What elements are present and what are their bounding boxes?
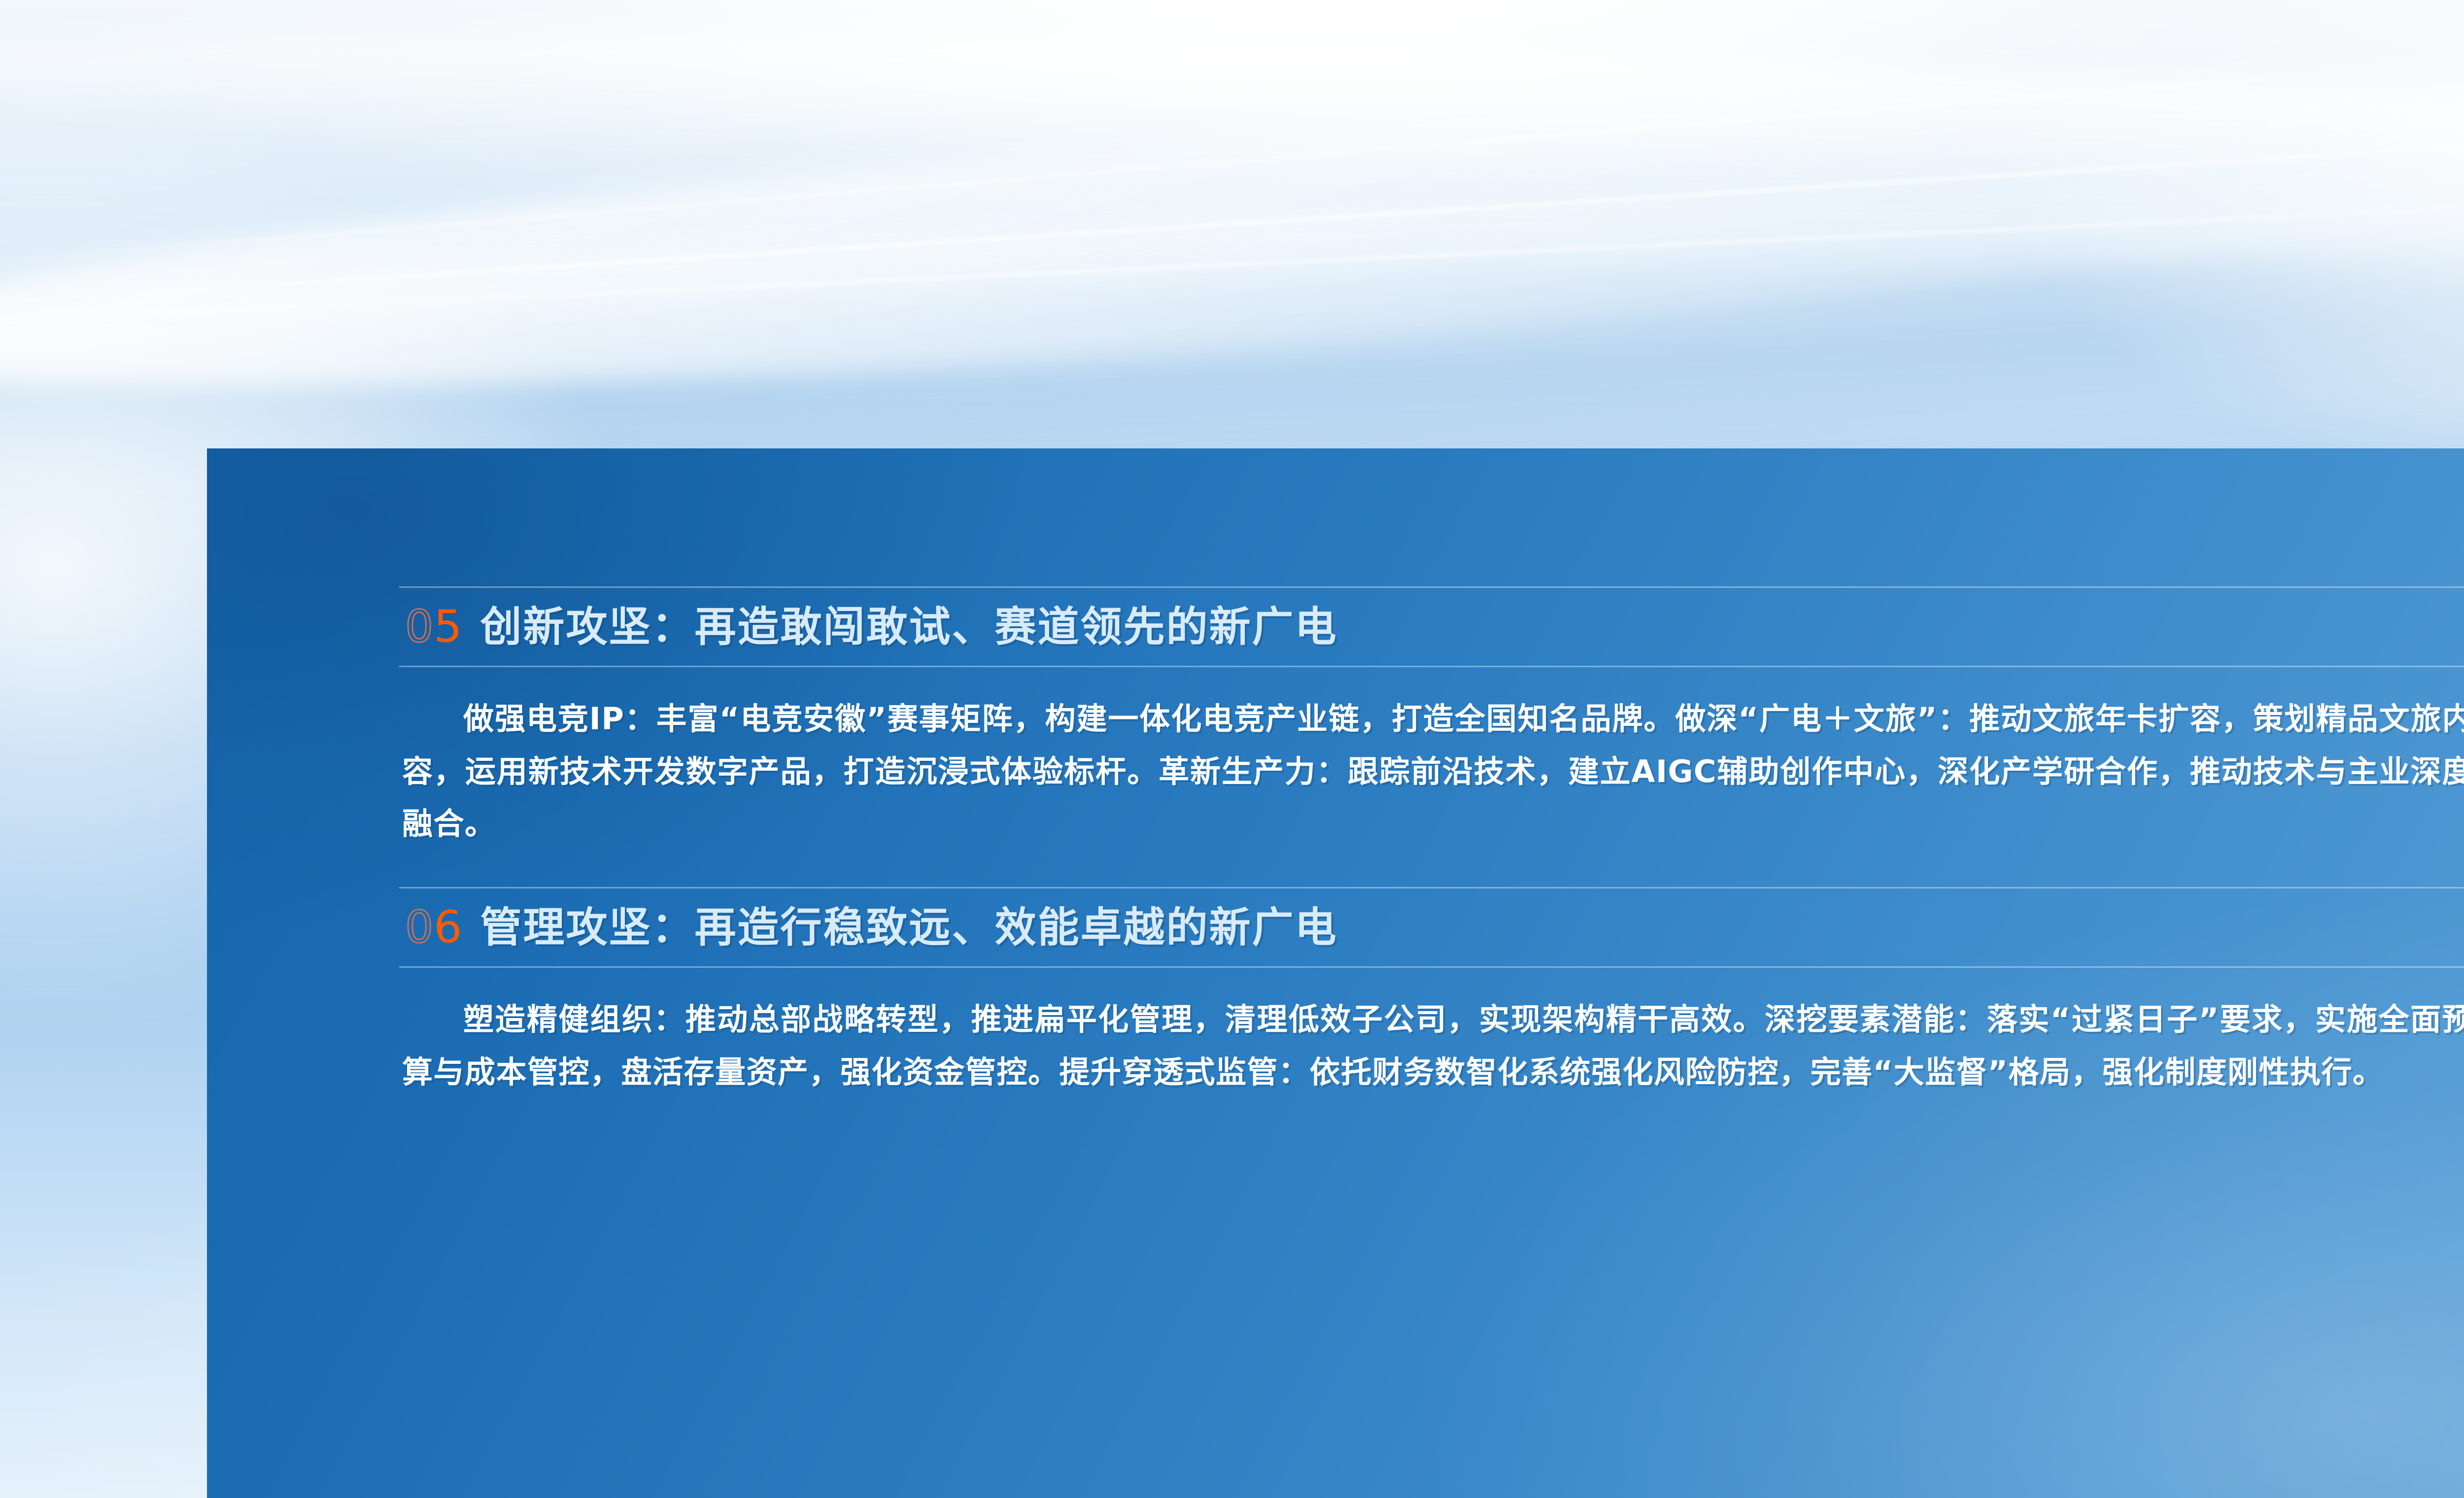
section-05-heading: 05 创新攻坚：再造敢闯敢试、赛道领先的新广电 bbox=[399, 588, 2464, 666]
section-05-number-digit: 5 bbox=[434, 601, 462, 652]
slide-canvas: 05 创新攻坚：再造敢闯敢试、赛道领先的新广电 做强电竞IP：丰富“电竞安徽”赛… bbox=[0, 0, 2464, 1498]
section-05: 05 创新攻坚：再造敢闯敢试、赛道领先的新广电 做强电竞IP：丰富“电竞安徽”赛… bbox=[399, 586, 2464, 887]
section-06-number-prefix: 0 bbox=[405, 901, 434, 953]
section-05-number-prefix: 0 bbox=[405, 601, 434, 652]
section-05-title: 创新攻坚：再造敢闯敢试、赛道领先的新广电 bbox=[480, 605, 1338, 648]
section-06-number: 06 bbox=[405, 905, 463, 950]
section-06-body: 塑造精健组织：推动总部战略转型，推进扁平化管理，清理低效子公司，实现架构精干高效… bbox=[399, 968, 2464, 1135]
section-06-title: 管理攻坚：再造行稳致远、效能卓越的新广电 bbox=[480, 906, 1338, 949]
section-06-heading: 06 管理攻坚：再造行稳致远、效能卓越的新广电 bbox=[399, 888, 2464, 966]
content-panel: 05 创新攻坚：再造敢闯敢试、赛道领先的新广电 做强电竞IP：丰富“电竞安徽”赛… bbox=[207, 448, 2464, 1498]
section-05-number: 05 bbox=[405, 605, 463, 649]
section-06: 06 管理攻坚：再造行稳致远、效能卓越的新广电 塑造精健组织：推动总部战略转型，… bbox=[399, 887, 2464, 1135]
section-05-body: 做强电竞IP：丰富“电竞安徽”赛事矩阵，构建一体化电竞产业链，打造全国知名品牌。… bbox=[399, 667, 2464, 887]
section-06-number-digit: 6 bbox=[434, 901, 462, 953]
content-column: 05 创新攻坚：再造敢闯敢试、赛道领先的新广电 做强电竞IP：丰富“电竞安徽”赛… bbox=[399, 586, 2464, 1135]
